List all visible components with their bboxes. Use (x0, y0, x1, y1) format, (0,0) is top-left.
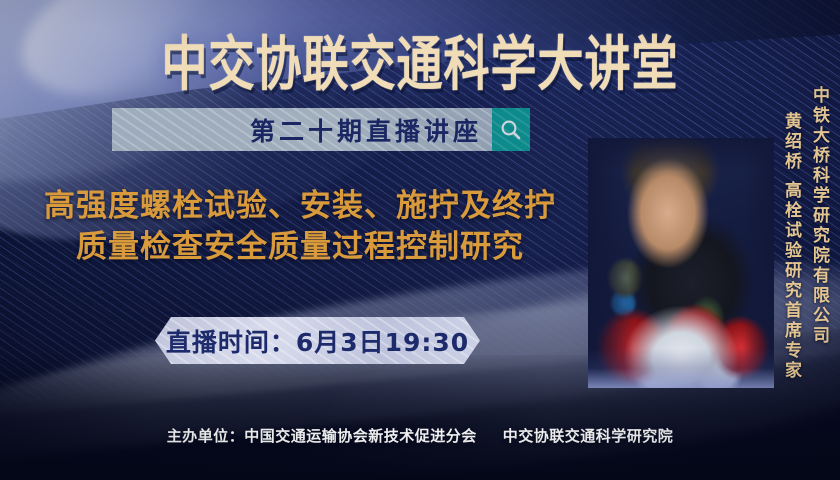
broadcast-time-label: 直播时间：6月3日19:30 (166, 323, 469, 359)
search-icon[interactable] (492, 108, 530, 151)
series-bar-body: 第二十期直播讲座 (112, 108, 492, 151)
speaker-name-title: 黄绍桥 高栓试验研究首席专家 (779, 112, 804, 381)
page-title: 中交协联交通科学大讲堂 (0, 18, 840, 102)
broadcast-time-badge: 直播时间：6月3日19:30 (155, 317, 480, 364)
footer-co-organizer: 中交协联交通科学研究院 (503, 425, 674, 446)
lecture-topic: 高强度螺栓试验、安装、施拧及终拧 质量检查安全质量过程控制研究 (0, 186, 600, 268)
lecture-topic-line-2: 质量检查安全质量过程控制研究 (0, 227, 600, 268)
footer-organizer: 主办单位：中国交通运输协会新技术促进分会 (167, 425, 477, 446)
series-label: 第二十期直播讲座 (250, 112, 492, 148)
lecture-topic-line-1: 高强度螺栓试验、安装、施拧及终拧 (0, 186, 600, 227)
footer: 主办单位：中国交通运输协会新技术促进分会 中交协联交通科学研究院 (0, 418, 840, 452)
speaker-photo (588, 138, 774, 388)
live-lecture-poster: 中交协联交通科学大讲堂 第二十期直播讲座 高强度螺栓试验、安装、施拧及终拧 质量… (0, 0, 840, 480)
photo-fade-bottom (588, 348, 774, 388)
speaker-organization: 中铁大桥科学研究院有限公司 (807, 86, 832, 346)
series-bar: 第二十期直播讲座 (112, 108, 530, 151)
